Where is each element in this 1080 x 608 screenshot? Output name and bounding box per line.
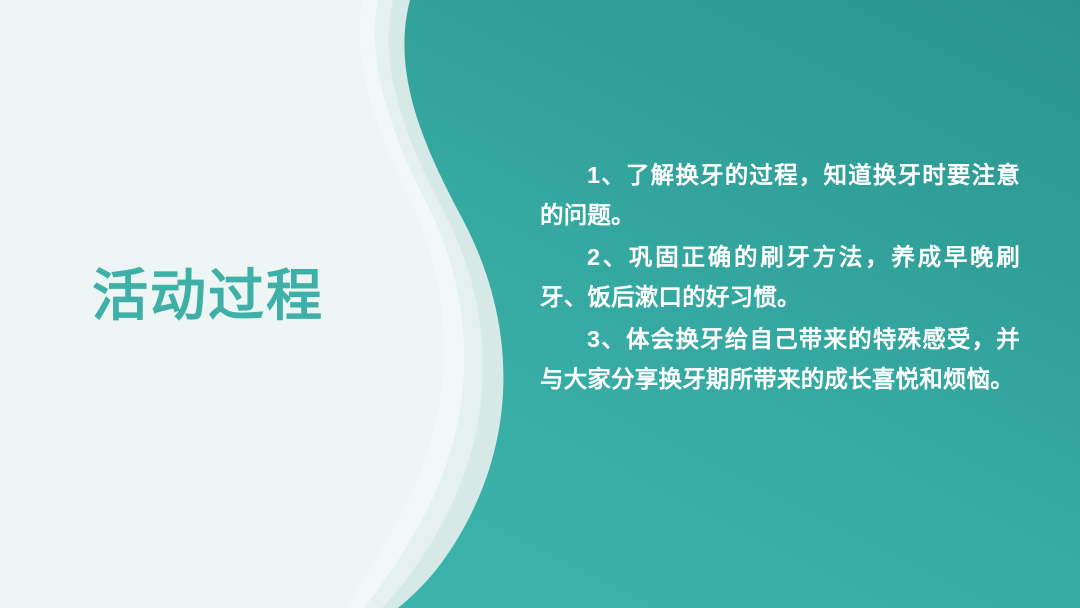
- presentation-slide: 活动过程 1、了解换牙的过程，知道换牙时要注意的问题。 2、巩固正确的刷牙方法，…: [0, 0, 1080, 608]
- page-title: 活动过程: [92, 266, 452, 326]
- body-paragraph-3: 3、体会换牙给自己带来的特殊感受，并与大家分享换牙期所带来的成长喜悦和烦恼。: [540, 319, 1020, 399]
- body-paragraph-1: 1、了解换牙的过程，知道换牙时要注意的问题。: [540, 155, 1020, 235]
- body-text-block: 1、了解换牙的过程，知道换牙时要注意的问题。 2、巩固正确的刷牙方法，养成早晚刷…: [540, 155, 1020, 401]
- title-block: 活动过程: [92, 266, 452, 326]
- body-paragraph-2: 2、巩固正确的刷牙方法，养成早晚刷牙、饭后漱口的好习惯。: [540, 237, 1020, 317]
